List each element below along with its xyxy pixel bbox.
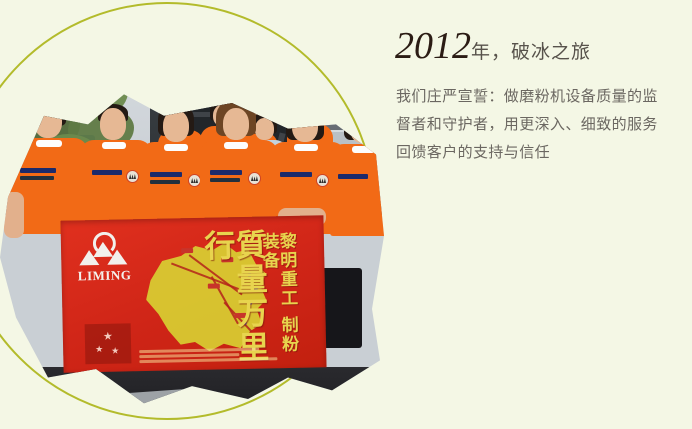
headline-year: 2012: [395, 25, 471, 67]
photo-ground: [0, 367, 400, 429]
company-banner-footer: [139, 347, 289, 365]
team-photo: LIMING 黎明重工 制粉装备 質量万里行 ★: [0, 0, 400, 429]
photo-curb: [0, 388, 200, 414]
team-photo-content: LIMING 黎明重工 制粉装备 質量万里行 ★: [0, 0, 400, 429]
map-city-label: [181, 248, 193, 253]
text-column: 2012年，破冰之旅 我们庄严宣誓：做磨粉机设备质量的监督者和守护者，用更深入、…: [395, 0, 675, 429]
headline-rest: 年，破冰之旅: [471, 41, 591, 63]
body-paragraph: 我们庄严宣誓：做磨粉机设备质量的监督者和守护者，用更深入、细致的服务回馈客户的支…: [396, 82, 664, 166]
page-title: 2012年，破冰之旅: [395, 24, 591, 68]
company-banner-corner-emblem: ★ ★ ★: [85, 323, 132, 364]
liming-logo-icon: LIMING: [75, 231, 136, 284]
liming-logo-text: LIMING: [75, 267, 133, 284]
promo-banner: LIMING 黎明重工 制粉装备 質量万里行 ★: [0, 0, 692, 429]
company-banner: LIMING 黎明重工 制粉装备 質量万里行 ★: [60, 215, 326, 372]
